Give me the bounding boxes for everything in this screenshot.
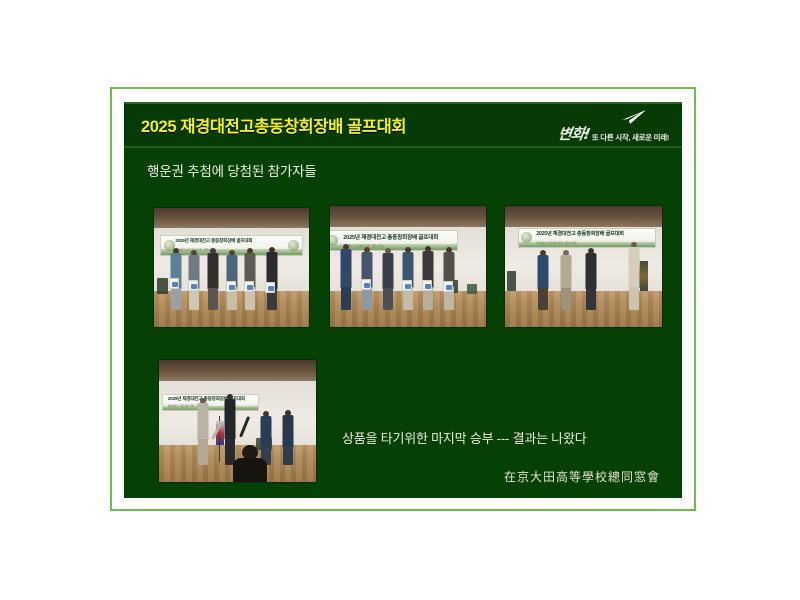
photo-final-showdown-game[interactable]: 2025년 재경대전고 총동창회장배 골프대회 재경대전고 총동창회 주최 · … (159, 360, 316, 482)
av-equipment (507, 271, 516, 291)
ceiling (159, 360, 316, 381)
photo-scene: 2025년 재경대전고 총동창회장배 골프대회 재경대전고 총동창회 주최 · … (159, 360, 316, 482)
av-equipment (467, 284, 477, 294)
ceiling (330, 206, 486, 227)
photo-scene: 2025년 재경대전고 총동창회장배 골프대회 재경대전고 총동창회 주최 · … (505, 206, 662, 327)
presentation-canvas: 2025 재경대전고총동창회장배 골프대회 변화! 또 다른 시작, 새로운 미… (0, 0, 800, 600)
slide-frame: 2025 재경대전고총동창회장배 골프대회 변화! 또 다른 시작, 새로운 미… (110, 87, 696, 511)
banner-green-strip (163, 406, 258, 411)
brand-lockup: 변화! 또 다른 시작, 새로운 미래! (558, 112, 669, 142)
footer-organization: 在京大田高等學校總同窓會 (504, 468, 660, 485)
caption-bottom: 상품을 타기위한 마지막 승부 --- 결과는 나왔다 (342, 428, 587, 447)
slide-surface: 2025 재경대전고총동창회장배 골프대회 변화! 또 다른 시작, 새로운 미… (124, 102, 682, 498)
event-banner: 2025년 재경대전고 총동창회장배 골프대회 재경대전고 총동창회 주최 · … (162, 394, 259, 411)
photo-lucky-draw-winners-group[interactable]: 2025년 재경대전고 총동창회장배 골프대회 재경대전고 총동창회 주최 · … (154, 208, 309, 327)
brand-tagline: 또 다른 시작, 새로운 미래! (592, 134, 669, 143)
banner-text: 2025년 재경대전고 총동창회장배 골프대회 (343, 233, 438, 241)
av-equipment (157, 278, 168, 294)
photo-award-presentation[interactable]: 2025년 재경대전고 총동창회장배 골프대회 재경대전고 총동창회 주최 · … (505, 206, 662, 327)
paper-plane-icon (621, 109, 647, 125)
page-title: 2025 재경대전고총동창회장배 골프대회 (141, 113, 406, 137)
photo-scene: 2025년 재경대전고 총동창회장배 골프대회 재경대전고 총동창회 주최 · … (154, 208, 309, 327)
banner-text: 2025년 재경대전고 총동창회장배 골프대회 (536, 230, 624, 237)
photo-winners-with-president[interactable]: 2025년 재경대전고 총동창회장배 골프대회 재경대전고 총동창회 주최 · … (330, 206, 486, 327)
brand-word: 변화! (557, 127, 591, 142)
school-flag (640, 261, 648, 291)
banner-text: 2025년 재경대전고 총동창회장배 골프대회 (175, 238, 252, 244)
ceiling (505, 206, 662, 227)
photo-scene: 2025년 재경대전고 총동창회장배 골프대회 재경대전고 총동창회 주최 · … (330, 206, 486, 327)
slide-title-band: 2025 재경대전고총동창회장배 골프대회 변화! 또 다른 시작, 새로운 미… (124, 104, 682, 148)
ceiling (154, 208, 309, 228)
caption-top: 행운권 추첨에 당첨된 참가자들 (147, 160, 317, 180)
